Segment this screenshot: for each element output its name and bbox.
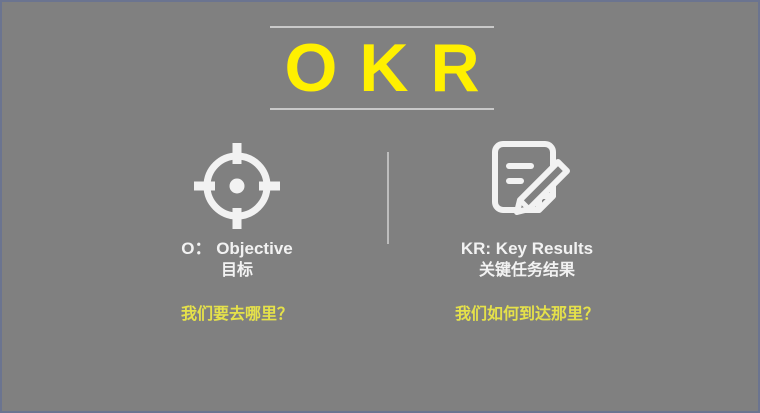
column-label-en: O： Objective <box>92 238 382 260</box>
column-label-en: KR: Key Results <box>382 238 672 260</box>
okr-slide: OKR O： Objective 目标 我们要去哪里？ <box>0 0 760 413</box>
column-question: 我们如何到达那里？ <box>382 304 672 326</box>
column-key-results: KR: Key Results 关键任务结果 我们如何到达那里？ <box>382 134 672 326</box>
title-rule-bottom <box>270 108 494 110</box>
columns-container: O： Objective 目标 我们要去哪里？ KR: Key Res <box>2 134 760 326</box>
document-edit-icon <box>382 134 672 238</box>
title-block: OKR <box>2 26 760 110</box>
column-label-cn: 关键任务结果 <box>382 260 672 282</box>
crosshair-target-icon <box>92 134 382 238</box>
column-question: 我们要去哪里？ <box>92 304 382 326</box>
title-rule-top <box>270 26 494 28</box>
column-label-cn: 目标 <box>92 260 382 282</box>
column-objective: O： Objective 目标 我们要去哪里？ <box>92 134 382 326</box>
page-title: OKR <box>2 30 760 106</box>
